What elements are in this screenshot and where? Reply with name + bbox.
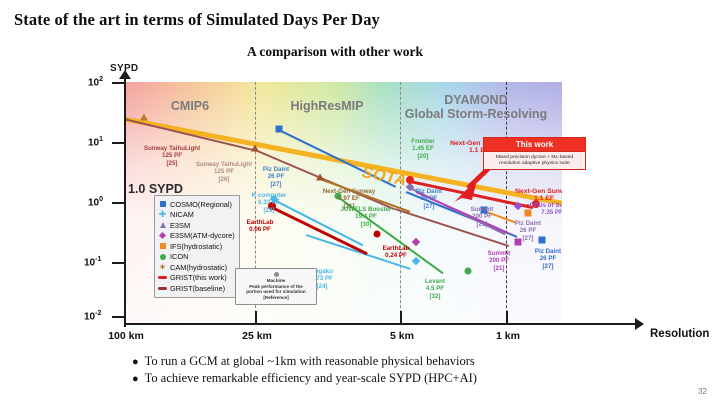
machine-note-box: Machine Peak performance of the portion … (235, 268, 317, 305)
legend-item-grist-this-work[interactable]: GRIST(this work) (158, 273, 235, 284)
page-number: 32 (698, 387, 707, 396)
bullet-text: To achieve remarkable efficiency and yea… (145, 370, 477, 386)
legend-item-e3sm-dycore[interactable]: E3SM(ATM-dycore) (158, 231, 235, 242)
line-dot-marker-icon (158, 276, 167, 279)
summary-bullets: ● To run a GCM at global ~1km with reaso… (132, 353, 477, 387)
data-point-sunway-taihulight-1 (140, 114, 148, 121)
diamond-marker-icon (158, 233, 167, 238)
annotation-piz-daint-1: Piz Daint 26 PF [27] (263, 166, 289, 188)
data-point-next-gen-sunway-097ef (316, 174, 324, 181)
legend-item-grist-baseline[interactable]: GRIST(baseline) (158, 283, 235, 294)
machine-marker-icon (274, 272, 279, 277)
region-label-highresmip: HighResMIP (291, 100, 364, 113)
annotation-sunway-taihulight-1: Sunway TaihuLight 125 PF [25] (144, 145, 200, 167)
sypd-reference-label: 1.0 SYPD (128, 182, 183, 196)
x-tick-label-2: 5 km (390, 330, 414, 342)
x-tick-0 (124, 311, 126, 324)
square-marker-icon (158, 201, 167, 207)
y-tick-label-1: 101 (88, 136, 696, 148)
x-axis-title: Resolution (650, 328, 709, 340)
legend-item-cam[interactable]: ✶ CAM(hydrostatic) (158, 262, 235, 273)
data-point-piz-daint-1 (276, 126, 283, 133)
bullet-dot-icon: ● (132, 354, 139, 370)
data-point-summit-2 (412, 238, 420, 246)
bullet-dot-icon: ● (132, 371, 139, 387)
data-point-earthlab-2 (374, 231, 381, 238)
chart-subtitle: A comparison with other work (247, 44, 423, 60)
this-work-callout-title: This work (483, 137, 586, 152)
chart-figure: CMIP6 HighResMIP DYAMOND Global Storm-Re… (102, 78, 696, 334)
legend-item-nicam[interactable]: ✚ NICAM (158, 210, 235, 221)
page-title: State of the art in terms of Simulated D… (14, 10, 380, 30)
annotation-levant: Levant 4.5 PF [32] (425, 278, 445, 300)
legend-item-icon[interactable]: ICON (158, 252, 235, 263)
region-label-dyamond: DYAMOND (444, 94, 507, 107)
this-work-callout-body: Mixed precision dycore + ML-based resolu… (483, 152, 586, 170)
y-tick-label-0: 102 (88, 76, 696, 88)
x-tick-3 (506, 311, 508, 324)
x-tick-label-1: 25 km (242, 330, 272, 342)
annotation-summit-1: Summit 200 PF [21] (471, 206, 494, 228)
legend-item-ifs[interactable]: IFS(hydrostatic) (158, 241, 235, 252)
bullet-item: ● To achieve remarkable efficiency and y… (132, 370, 477, 387)
x-tick-label-3: 1 km (496, 330, 520, 342)
data-point-levant (465, 268, 472, 275)
bullet-item: ● To run a GCM at global ~1km with reaso… (132, 353, 477, 370)
star-marker-icon: ✶ (158, 263, 167, 272)
legend-item-cosmo[interactable]: COSMO(Regional) (158, 199, 235, 210)
chart-legend: COSMO(Regional) ✚ NICAM E3SM E3SM(ATM-dy… (154, 195, 240, 298)
region-label-cmip6: CMIP6 (171, 100, 209, 113)
square-marker-icon (158, 243, 167, 249)
bullet-text: To run a GCM at global ~1km with reasona… (145, 353, 475, 369)
annotation-earthlab-1: EarthLab 0.06 PF (247, 219, 274, 234)
legend-item-e3sm[interactable]: E3SM (158, 220, 235, 231)
this-work-callout: This work Mixed precision dycore + ML-ba… (483, 137, 586, 170)
region-label-dyamond-sub: Global Storm-Resolving (405, 108, 547, 121)
x-tick-label-0: 100 km (108, 330, 144, 342)
annotation-juwels-booster: JUWELS Booster 19.4 PF [30] (341, 206, 392, 228)
x-axis-line (124, 323, 639, 325)
circle-marker-icon (158, 254, 167, 260)
triangle-marker-icon (158, 222, 167, 228)
plus-marker-icon: ✚ (158, 210, 167, 219)
annotation-piz-daint-3: Piz Daint 26 PF [27] (515, 220, 541, 242)
x-tick-2 (400, 311, 402, 324)
annotation-sunway-taihulight-2: Sunway TaihuLight 125 PF [26] (196, 161, 252, 183)
line-dot-marker-icon (158, 287, 167, 290)
x-tick-1 (255, 311, 257, 324)
y-tick-label-4: 10-2 (84, 310, 696, 322)
